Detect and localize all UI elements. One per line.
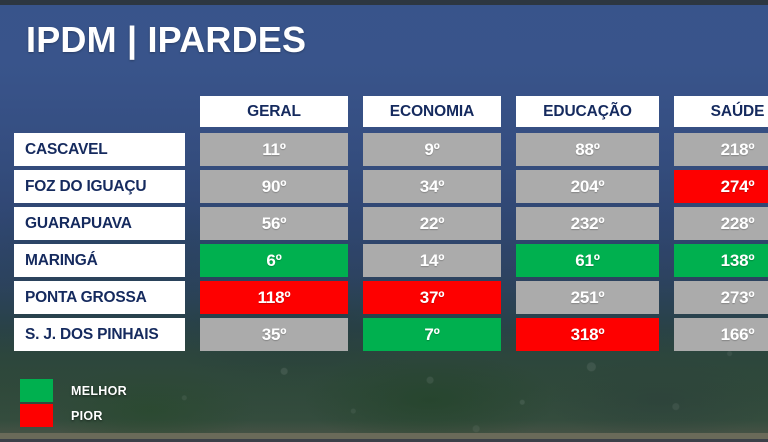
ranking-table: GERALECONOMIAEDUCAÇÃOSAÚDECASCAVEL11º9º8… bbox=[0, 96, 768, 355]
rank-cell-neutral: 273º bbox=[674, 281, 768, 314]
table-row: PONTA GROSSA118º37º251º273º bbox=[0, 281, 768, 314]
column-gap bbox=[185, 318, 200, 351]
legend-item: PIOR bbox=[20, 404, 127, 427]
column-gap bbox=[501, 133, 516, 166]
table-row: GUARAPUAVA56º22º232º228º bbox=[0, 207, 768, 240]
column-header-economia[interactable]: ECONOMIA bbox=[363, 96, 501, 127]
row-label-city: PONTA GROSSA bbox=[14, 281, 185, 314]
header-corner-spacer bbox=[14, 96, 185, 127]
slide-canvas: IPDM | IPARDES GERALECONOMIAEDUCAÇÃOSAÚD… bbox=[0, 0, 768, 442]
legend-swatch-worst bbox=[20, 404, 53, 427]
table-row: S. J. DOS PINHAIS35º7º318º166º bbox=[0, 318, 768, 351]
rank-cell-neutral: 9º bbox=[363, 133, 501, 166]
rank-cell-neutral: 218º bbox=[674, 133, 768, 166]
row-label-city: S. J. DOS PINHAIS bbox=[14, 318, 185, 351]
row-label-city: MARINGÁ bbox=[14, 244, 185, 277]
table-header-row: GERALECONOMIAEDUCAÇÃOSAÚDE bbox=[0, 96, 768, 127]
legend: MELHORPIOR bbox=[20, 379, 127, 429]
column-gap bbox=[659, 170, 674, 203]
column-gap bbox=[501, 170, 516, 203]
row-label-city: CASCAVEL bbox=[14, 133, 185, 166]
column-gap bbox=[348, 318, 363, 351]
column-gap bbox=[348, 207, 363, 240]
column-gap bbox=[185, 133, 200, 166]
rank-cell-neutral: 14º bbox=[363, 244, 501, 277]
legend-item: MELHOR bbox=[20, 379, 127, 402]
table-row: MARINGÁ6º14º61º138º bbox=[0, 244, 768, 277]
rank-cell-neutral: 35º bbox=[200, 318, 348, 351]
rank-cell-neutral: 166º bbox=[674, 318, 768, 351]
column-gap bbox=[185, 281, 200, 314]
column-gap bbox=[501, 244, 516, 277]
column-gap bbox=[185, 244, 200, 277]
rank-cell-neutral: 22º bbox=[363, 207, 501, 240]
rank-cell-neutral: 232º bbox=[516, 207, 659, 240]
column-gap bbox=[185, 207, 200, 240]
rank-cell-best: 6º bbox=[200, 244, 348, 277]
page-title: IPDM | IPARDES bbox=[26, 19, 306, 61]
column-gap bbox=[659, 281, 674, 314]
rank-cell-neutral: 90º bbox=[200, 170, 348, 203]
table-row: FOZ DO IGUAÇU90º34º204º274º bbox=[0, 170, 768, 203]
legend-swatch-best bbox=[20, 379, 53, 402]
column-gap bbox=[501, 281, 516, 314]
rank-cell-neutral: 11º bbox=[200, 133, 348, 166]
rank-cell-neutral: 251º bbox=[516, 281, 659, 314]
column-gap bbox=[185, 170, 200, 203]
rank-cell-best: 61º bbox=[516, 244, 659, 277]
column-gap bbox=[501, 207, 516, 240]
column-header-sade[interactable]: SAÚDE bbox=[674, 96, 768, 127]
rank-cell-worst: 318º bbox=[516, 318, 659, 351]
rank-cell-neutral: 228º bbox=[674, 207, 768, 240]
table-row: CASCAVEL11º9º88º218º bbox=[0, 133, 768, 166]
column-gap bbox=[659, 133, 674, 166]
rank-cell-worst: 37º bbox=[363, 281, 501, 314]
column-gap bbox=[348, 133, 363, 166]
column-header-educao[interactable]: EDUCAÇÃO bbox=[516, 96, 659, 127]
rank-cell-neutral: 204º bbox=[516, 170, 659, 203]
column-gap bbox=[659, 207, 674, 240]
column-gap bbox=[348, 96, 363, 127]
rank-cell-worst: 274º bbox=[674, 170, 768, 203]
legend-label: PIOR bbox=[71, 409, 103, 423]
rank-cell-best: 138º bbox=[674, 244, 768, 277]
column-gap bbox=[659, 244, 674, 277]
column-gap bbox=[185, 96, 200, 127]
legend-label: MELHOR bbox=[71, 384, 127, 398]
column-gap bbox=[348, 244, 363, 277]
rank-cell-neutral: 34º bbox=[363, 170, 501, 203]
column-gap bbox=[659, 318, 674, 351]
column-gap bbox=[348, 281, 363, 314]
column-gap bbox=[659, 96, 674, 127]
column-gap bbox=[501, 96, 516, 127]
column-gap bbox=[501, 318, 516, 351]
row-label-city: GUARAPUAVA bbox=[14, 207, 185, 240]
rank-cell-neutral: 56º bbox=[200, 207, 348, 240]
row-label-city: FOZ DO IGUAÇU bbox=[14, 170, 185, 203]
rank-cell-worst: 118º bbox=[200, 281, 348, 314]
rank-cell-best: 7º bbox=[363, 318, 501, 351]
column-gap bbox=[348, 170, 363, 203]
top-letterbox-bar bbox=[0, 0, 768, 5]
rank-cell-neutral: 88º bbox=[516, 133, 659, 166]
column-header-geral[interactable]: GERAL bbox=[200, 96, 348, 127]
